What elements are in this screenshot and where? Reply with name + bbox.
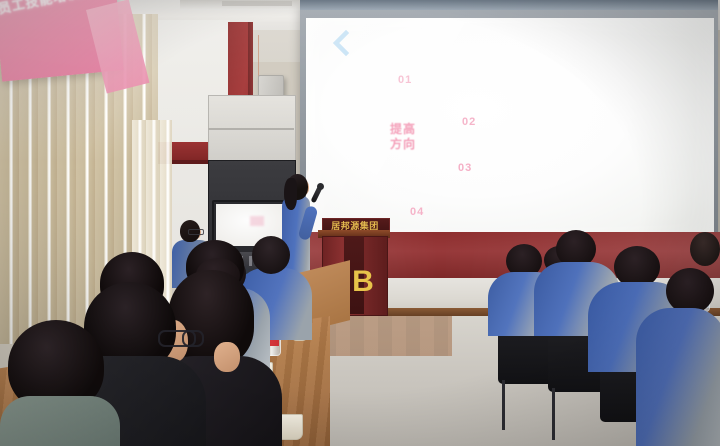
ceiling-vent [222,1,292,6]
audience-hand [214,342,240,372]
podium-company-logo: B [348,266,378,298]
chair-leg [502,380,505,430]
av-rack-panel-seam [208,128,294,130]
audience-head [252,236,290,274]
projection-screen-top-rail [300,0,718,10]
chair-leg [552,388,555,440]
audience-head [690,232,720,266]
eyeglasses-lens [182,330,204,347]
monitor-slide-preview [250,216,264,226]
audience-uniform-torso [636,308,720,446]
presenter-hair [284,178,297,210]
av-operator-glasses [188,229,204,235]
microphone-capsule [317,183,324,190]
projection-screen-glare [306,18,714,246]
meeting-room-photo: 员工技能培训大会 提高 方向 01 02 03 04 居邦源集团 B [0,0,720,446]
audience-torso [0,396,120,446]
